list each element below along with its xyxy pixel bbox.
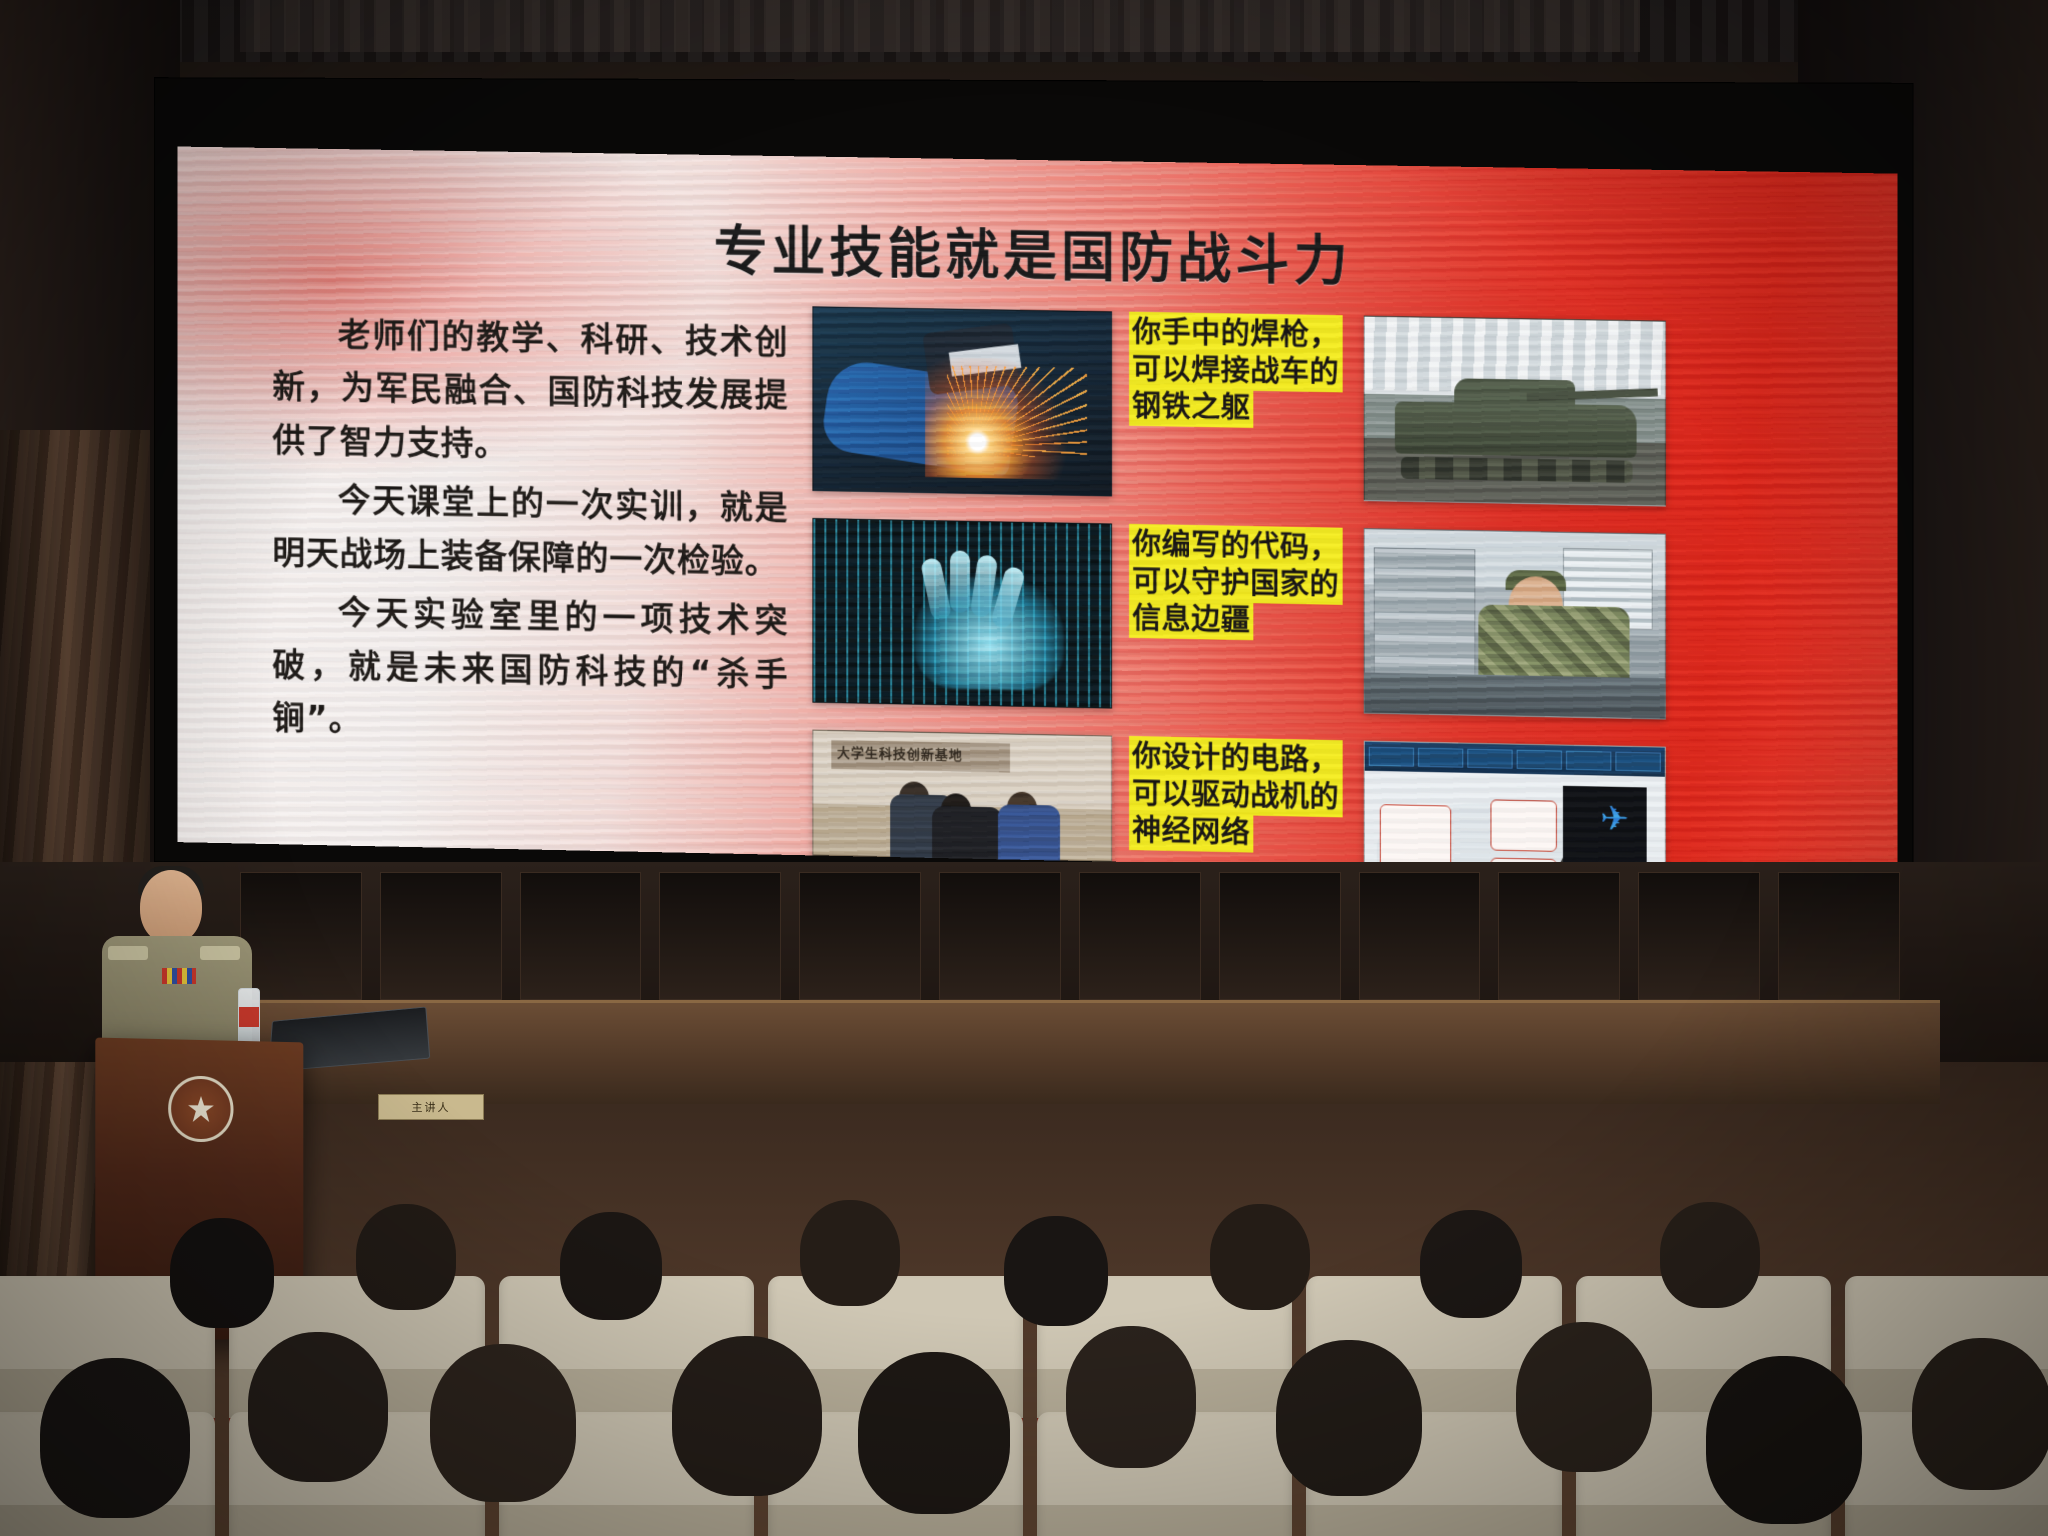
- media-note-text: 你手中的焊枪，可以焊接战车的钢铁之躯: [1132, 315, 1339, 425]
- audience-head: [1210, 1204, 1310, 1310]
- audience-area: 12 11 10 12 11 10: [0, 1100, 2048, 1536]
- audience-head: [40, 1358, 190, 1518]
- media-row: 大学生科技创新基地 你设计的电路，可以驱动战机的神经网络 ✈: [812, 730, 1856, 878]
- projection-screen[interactable]: 专业技能就是国防战斗力 老师们的教学、科研、技术创新，为军民融合、国防科技发展提…: [178, 147, 1898, 879]
- aircraft-electrical-system-diagram: ✈: [1364, 741, 1666, 878]
- slide-media-grid: 你手中的焊枪，可以焊接战车的钢铁之躯 你编写的代码，可以守护国家的信息边疆: [812, 306, 1856, 878]
- audience-head: [1004, 1216, 1108, 1326]
- media-note: 你设计的电路，可以驱动战机的神经网络: [1130, 736, 1346, 856]
- stage-counter: [240, 1000, 1940, 1104]
- audience-head: [248, 1332, 388, 1482]
- slide-paragraph: 老师们的教学、科研、技术创新，为军民融合、国防科技发展提供了智力支持。: [272, 307, 788, 476]
- digital-binary-hand-photo: [812, 518, 1112, 709]
- media-note-text: 你编写的代码，可以守护国家的信息边疆: [1132, 527, 1339, 638]
- slide-paragraph: 今天实验室里的一项技术突破，就是未来国防科技的“杀手锏”。: [272, 585, 788, 755]
- media-note: 你编写的代码，可以守护国家的信息边疆: [1130, 524, 1346, 644]
- audience-head: [672, 1336, 822, 1496]
- armored-vehicle-photo: [1364, 316, 1666, 507]
- audience-head: [1660, 1202, 1760, 1308]
- audience-head: [170, 1218, 274, 1328]
- slide-title: 专业技能就是国防战斗力: [178, 198, 1898, 305]
- audience-head: [858, 1352, 1010, 1514]
- media-row: 你编写的代码，可以守护国家的信息边疆: [812, 518, 1856, 728]
- audience-head: [800, 1200, 900, 1306]
- presenting-officer: [96, 862, 296, 1062]
- lab-banner-text: 大学生科技创新基地: [837, 742, 963, 764]
- slide-body-text: 老师们的教学、科研、技术创新，为军民融合、国防科技发展提供了智力支持。 今天课堂…: [272, 307, 788, 761]
- audience-head: [1516, 1322, 1652, 1472]
- media-note: 你手中的焊枪，可以焊接战车的钢铁之躯: [1130, 312, 1346, 431]
- audience-head: [1912, 1338, 2048, 1490]
- student-lab-workshop-photo: 大学生科技创新基地: [812, 730, 1112, 878]
- audience-head: [356, 1204, 456, 1310]
- media-row: 你手中的焊枪，可以焊接战车的钢铁之躯: [812, 306, 1856, 515]
- audience-head: [1420, 1210, 1522, 1318]
- audience-head: [1066, 1326, 1196, 1468]
- audience-head: [1276, 1340, 1422, 1496]
- audience-head: [1706, 1356, 1862, 1524]
- media-note-text: 你设计的电路，可以驱动战机的神经网络: [1132, 739, 1339, 850]
- stage-panel-row: [240, 872, 1900, 1000]
- welder-with-sparks-photo: [812, 306, 1112, 496]
- ceiling-panel: [240, 0, 1640, 52]
- audience-head: [430, 1344, 576, 1502]
- slide-paragraph: 今天课堂上的一次实训，就是明天战场上装备保障的一次检验。: [272, 473, 788, 589]
- presentation-slide: 专业技能就是国防战斗力 老师们的教学、科研、技术创新，为军民融合、国防科技发展提…: [178, 147, 1898, 879]
- audience-head: [560, 1212, 662, 1320]
- lecture-hall-scene: 专业技能就是国防战斗力 老师们的教学、科研、技术创新，为军民融合、国防科技发展提…: [0, 0, 2048, 1536]
- soldier-at-console-photo: [1364, 528, 1666, 719]
- airplane-icon: ✈: [1600, 801, 1629, 836]
